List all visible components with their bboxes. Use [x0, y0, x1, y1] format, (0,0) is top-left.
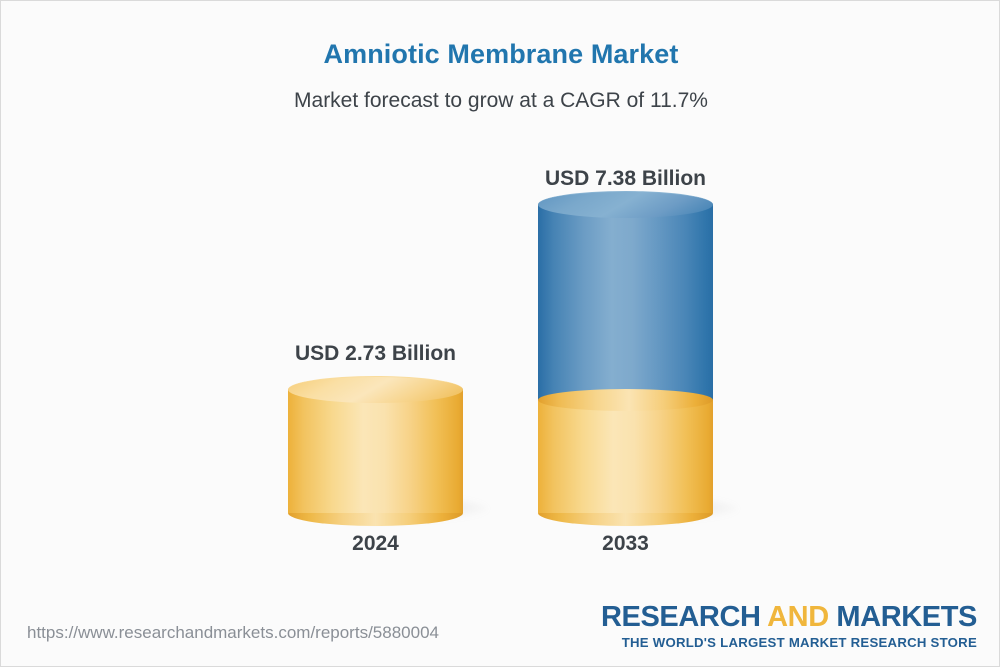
brand-logo-and: AND	[767, 601, 829, 633]
category-label-2033: 2033	[538, 532, 713, 556]
brand-tagline: THE WORLD'S LARGEST MARKET RESEARCH STOR…	[601, 635, 977, 650]
bar-cylinder-2024[interactable]	[288, 389, 463, 513]
brand-logo: RESEARCH AND MARKETS THE WORLD'S LARGEST…	[601, 601, 977, 650]
brand-logo-text: RESEARCH AND MARKETS	[601, 601, 977, 634]
bar-body-2024	[288, 389, 463, 513]
value-label-2033: USD 7.38 Billion	[538, 167, 713, 191]
brand-logo-markets: MARKETS	[829, 601, 977, 633]
bar-cylinder-2033[interactable]	[538, 204, 713, 513]
bar-base-segment-2033	[538, 399, 713, 513]
chart-canvas: Amniotic Membrane Market Market forecast…	[0, 0, 1000, 667]
chart-title: Amniotic Membrane Market	[1, 39, 1000, 70]
bar-top-cap-2033	[538, 191, 713, 218]
chart-subtitle: Market forecast to grow at a CAGR of 11.…	[1, 89, 1000, 113]
brand-logo-research: RESEARCH	[601, 601, 767, 633]
bar-segment-seam-2033	[538, 389, 713, 411]
category-label-2024: 2024	[288, 532, 463, 556]
value-label-2024: USD 2.73 Billion	[288, 342, 463, 366]
bar-top-cap-2024	[288, 376, 463, 403]
source-url[interactable]: https://www.researchandmarkets.com/repor…	[27, 623, 439, 643]
bar-body-2033	[538, 204, 713, 400]
